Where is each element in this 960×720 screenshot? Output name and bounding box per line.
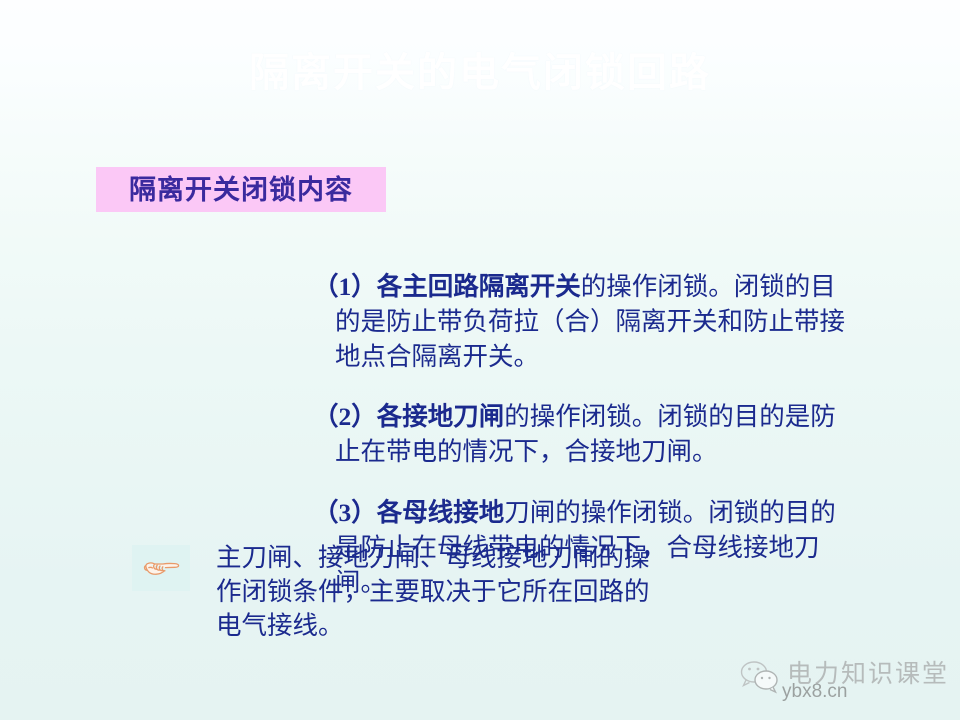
list-item-emphasis: 各接地刀闸 — [377, 402, 505, 431]
note-callout: 主刀闸、接地刀闸、母线接地刀闸的操作闭锁条件，主要取决于它所在回路的电气接线。 — [132, 541, 832, 643]
section-heading-box: 隔离开关闭锁内容 — [96, 167, 386, 212]
page-title: 隔离开关的电气闭锁回路 — [0, 47, 960, 99]
list-item-emphasis: 各主回路隔离开关 — [377, 272, 581, 301]
section-heading-label: 隔离开关闭锁内容 — [129, 175, 353, 205]
slide-canvas: 隔离开关的电气闭锁回路 隔离开关闭锁内容 （1）各主回路隔离开关的操作闭锁。闭锁… — [0, 0, 960, 720]
watermark: 电力知识课堂 ybx8.cn — [737, 657, 952, 709]
wechat-icon — [737, 659, 783, 695]
list-item-emphasis: 各母线接地 — [377, 498, 505, 527]
list-item-number: （3） — [313, 498, 377, 527]
list-item: （1）各主回路隔离开关的操作闭锁。闭锁的目的是防止带负荷拉（合）隔离开关和防止带… — [313, 269, 858, 374]
watermark-domain: ybx8.cn — [782, 681, 847, 703]
note-text: 主刀闸、接地刀闸、母线接地刀闸的操作闭锁条件，主要取决于它所在回路的电气接线。 — [216, 541, 671, 643]
list-item-number: （1） — [313, 272, 377, 301]
pointing-hand-icon-box — [132, 545, 190, 591]
list-item: （2）各接地刀闸的操作闭锁。闭锁的目的是防止在带电的情况下，合接地刀闸。 — [313, 399, 858, 469]
list-item-number: （2） — [313, 402, 377, 431]
pointing-hand-icon — [141, 555, 181, 581]
